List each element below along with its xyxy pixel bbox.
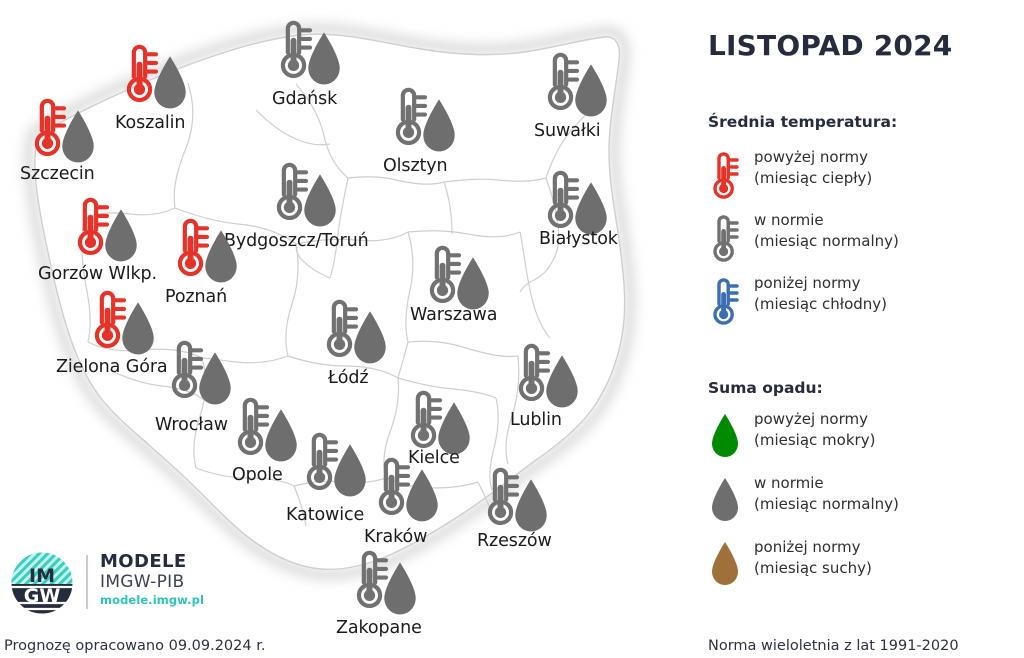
droplet-icon [570,62,612,124]
city-label: Szczecin [20,164,95,184]
legend-label-line1: powyżej normy [754,147,872,168]
legend-panel: LISTOPAD 2024 Średnia temperatura: powyż… [708,0,1024,658]
legend-label-temp-above: powyżej normy (miesiąc ciepły) [754,147,872,189]
thermometer-icon-warm [708,150,740,206]
legend-label-line2: (miesiąc ciepły) [754,168,872,189]
logo-wordmark: MODELE IMGW-PIB modele.imgw.pl [100,551,204,608]
city-label: Lublin [510,410,562,430]
legend-label-temp-normal: w normie (miesiąc normalny) [754,210,899,252]
page-title: LISTOPAD 2024 [708,29,952,62]
droplet-icon [303,30,345,92]
droplet-icon [117,300,159,362]
logo-line-modele: MODELE [100,551,204,572]
legend-heading-temperature: Średnia temperatura: [708,113,897,131]
droplet-icon [260,407,302,469]
city-label: Zielona Góra [56,357,168,377]
logo-mark-text-top: IM [29,565,55,587]
city-label: Warszawa [410,305,497,325]
droplet-icon [149,54,191,116]
legend-label-line2: (miesiąc normalny) [754,231,899,252]
droplet-icon [541,353,583,415]
imgw-logo: IM GW MODELE IMGW-PIB modele.imgw.pl [10,551,220,613]
footer-norm-period: Norma wieloletnia z lat 1991-2020 [708,638,959,654]
droplet-icon-dry [708,540,742,592]
droplet-icon [200,228,242,290]
legend-label-line2: (miesiąc mokry) [754,430,875,451]
thermometer-icon-normal [708,213,740,269]
legend-heading-precipitation: Suma opadu: [708,379,823,397]
city-label: Kraków [364,527,427,547]
droplet-icon [194,350,236,412]
droplet-icon [299,172,341,234]
city-label: Wrocław [155,415,228,435]
legend-label-precip-above: powyżej normy (miesiąc mokry) [754,409,875,451]
city-label: Olsztyn [383,156,448,176]
city-label: Rzeszów [477,531,552,551]
city-label: Kielce [408,448,460,468]
thermometer-icon-cold [708,276,740,332]
city-label: Opole [232,465,283,485]
footer-forecast-date: Prognozę opracowano 09.09.2024 r. [4,638,265,654]
legend-label-precip-normal: w normie (miesiąc normalny) [754,473,899,515]
legend-label-line2: (miesiąc normalny) [754,494,899,515]
droplet-icon [401,467,443,529]
city-label: Bydgoszcz/Toruń [224,231,369,251]
droplet-icon [100,207,142,269]
forecast-map-page: SzczecinKoszalinGdańskOlsztynSuwałkiGorz… [0,0,1024,658]
legend-label-precip-below: poniżej normy (miesiąc suchy) [754,537,872,579]
logo-line-imgw-pib: IMGW-PIB [100,572,204,592]
city-label: Katowice [286,505,364,525]
city-label: Poznań [165,287,227,307]
droplet-icon [349,309,391,371]
city-label: Zakopane [336,618,422,638]
droplet-icon [418,97,460,159]
city-label: Gorzów Wlkp. [38,264,157,284]
city-label: Gdańsk [272,89,337,109]
city-label: Łódź [328,368,368,388]
city-label: Suwałki [534,121,601,141]
droplet-icon [379,560,421,622]
legend-label-line1: poniżej normy [754,273,887,294]
logo-mark-text-bottom: GW [24,585,61,607]
city-label: Białystok [539,229,618,249]
droplet-icon-normal [708,476,742,528]
droplet-icon [329,442,371,504]
droplet-icon [57,108,99,170]
droplet-icon-wet [708,412,742,464]
city-label: Koszalin [115,113,185,133]
imgw-logo-mark: IM GW [10,551,74,619]
legend-label-line1: powyżej normy [754,409,875,430]
legend-label-line1: w normie [754,210,899,231]
legend-label-temp-below: poniżej normy (miesiąc chłodny) [754,273,887,315]
legend-label-line1: poniżej normy [754,537,872,558]
logo-line-url: modele.imgw.pl [100,593,204,608]
legend-label-line2: (miesiąc chłodny) [754,294,887,315]
legend-label-line1: w normie [754,473,899,494]
logo-divider [86,555,88,609]
legend-label-line2: (miesiąc suchy) [754,558,872,579]
droplet-icon [510,477,552,539]
